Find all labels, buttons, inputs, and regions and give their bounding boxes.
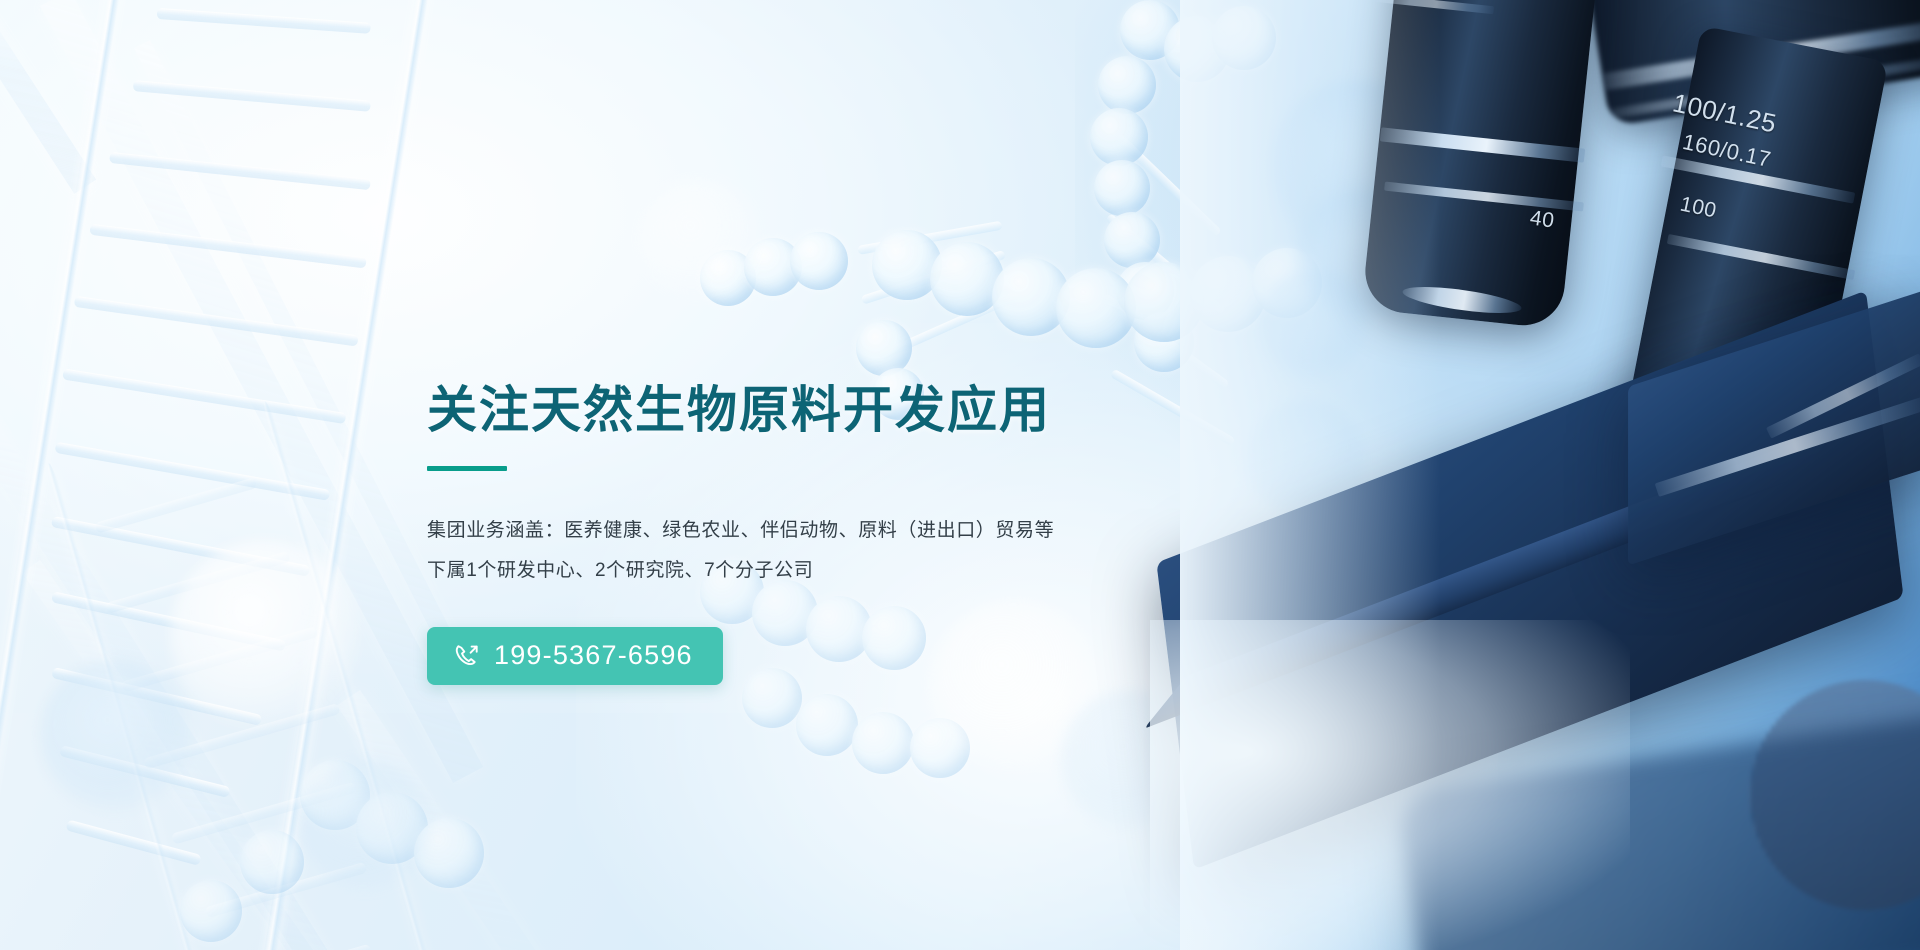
mol-atom <box>1134 312 1194 372</box>
stage-arm-highlight <box>1766 353 1920 438</box>
helix-rail-a <box>44 462 229 950</box>
mol-bond <box>1105 213 1226 316</box>
mol-atom <box>356 792 428 864</box>
mol-bond <box>857 221 1002 255</box>
stage-clip-highlight <box>1655 397 1920 497</box>
mol-atom <box>796 694 858 756</box>
mol-atom <box>1098 56 1156 114</box>
bokeh-light <box>1270 80 1445 255</box>
helix-rung <box>66 819 202 865</box>
helix-rung <box>94 477 257 533</box>
mol-atom <box>1090 108 1148 166</box>
lens-glass-tip <box>1697 421 1808 461</box>
phone-outgoing-icon <box>453 642 481 670</box>
helix-rung <box>51 667 262 726</box>
glass-facet-2 <box>40 0 483 783</box>
mol-atom <box>1056 268 1136 348</box>
focus-knob <box>1750 680 1920 910</box>
mol-atom <box>1116 262 1174 320</box>
lens-highlight-ring <box>1374 0 1494 14</box>
glass-facet-4 <box>0 330 343 950</box>
mol-bond <box>861 250 1006 305</box>
helix-rail-a <box>0 0 139 950</box>
mol-atom <box>872 230 942 300</box>
subcopy-line-1: 集团业务涵盖：医养健康、绿色农业、伴侣动物、原料（进出口）贸易等 <box>427 511 1247 551</box>
mol-atom <box>852 712 914 774</box>
helix-rung <box>171 782 357 845</box>
lens-highlight-ring <box>1380 127 1585 162</box>
helix-rung <box>244 944 372 950</box>
dna-helix-left <box>0 0 446 950</box>
bokeh-light <box>1258 270 1368 380</box>
microscope-stage <box>1156 290 1903 869</box>
mol-atom <box>1252 248 1322 318</box>
mol-atom <box>910 718 970 778</box>
hero-banner: 40 100/1.25 160/0.17 100 <box>0 0 1920 950</box>
mol-atom <box>856 320 912 376</box>
mol-atom <box>1104 212 1160 268</box>
bokeh-light <box>170 540 360 730</box>
mol-atom <box>180 880 242 942</box>
lens-magnification-40-label: 40 <box>1528 206 1555 233</box>
helix-rung <box>59 745 230 798</box>
bokeh-light <box>1296 190 1426 320</box>
bokeh-light <box>1060 690 1200 830</box>
mol-bond <box>878 291 1019 360</box>
helix-rail-b <box>251 0 441 950</box>
microscope-stage-slide-clip <box>1628 285 1920 566</box>
helix-rung <box>121 626 318 692</box>
microscope-turret <box>1574 0 1920 127</box>
helix-rung <box>133 80 371 112</box>
helix-rung <box>89 224 366 269</box>
helix-rung <box>105 551 291 614</box>
helix-rung <box>74 296 359 347</box>
call-phone-button[interactable]: 199-5367-6596 <box>427 627 723 685</box>
glass-facet-3 <box>134 40 468 672</box>
microscope-stage-edge <box>1144 425 1840 729</box>
bokeh-light <box>40 660 190 810</box>
helix-rung <box>62 368 346 424</box>
mol-atom <box>1190 256 1266 332</box>
turret-highlight-ring <box>1611 55 1920 118</box>
mol-atom <box>930 242 1004 316</box>
phone-number: 199-5367-6596 <box>494 642 693 669</box>
headline-underline <box>427 466 507 471</box>
objective-lens-40x <box>1361 0 1599 329</box>
mol-atom <box>790 232 848 290</box>
helix-rung <box>55 442 331 501</box>
helix-rung <box>157 8 371 34</box>
lens-tube-160-label: 160/0.17 <box>1680 129 1773 173</box>
page-title: 关注天然生物原料开发应用 <box>427 382 1247 438</box>
mol-atom <box>700 250 756 306</box>
lens-magnification-100-label: 100 <box>1678 192 1719 223</box>
mol-atom <box>240 830 304 894</box>
glass-facet-6 <box>337 690 651 950</box>
microscope: 40 100/1.25 160/0.17 100 <box>1230 0 1920 950</box>
bokeh-light <box>300 760 430 890</box>
helix-rung <box>205 862 368 918</box>
mol-atom <box>1094 160 1150 216</box>
objective-lens-100x <box>1622 26 1889 475</box>
microscope-base <box>1396 709 1920 950</box>
dna-helix-lower-left <box>37 398 454 950</box>
lens-aperture-100-label: 100/1.25 <box>1670 87 1779 139</box>
mol-atom <box>1164 16 1230 82</box>
mol-atom <box>744 238 802 296</box>
subcopy-line-2: 下属1个研发中心、2个研究院、7个分子公司 <box>427 551 1247 591</box>
hero-subcopy: 集团业务涵盖：医养健康、绿色农业、伴侣动物、原料（进出口）贸易等 下属1个研发中… <box>427 511 1247 591</box>
lens-highlight-ring <box>1384 182 1584 212</box>
helix-rung <box>51 516 310 577</box>
hero-content: 关注天然生物原料开发应用 集团业务涵盖：医养健康、绿色农业、伴侣动物、原料（进出… <box>427 382 1247 685</box>
mol-bond <box>1115 133 1222 237</box>
helix-rung <box>109 152 371 190</box>
lens-glass-tip <box>1401 282 1523 319</box>
mol-atom <box>300 760 370 830</box>
glass-facet-1 <box>0 0 96 194</box>
helix-rail-b <box>261 400 446 950</box>
helix-rung <box>51 591 286 651</box>
glass-facet-5 <box>22 560 396 950</box>
mol-atom <box>1124 262 1204 342</box>
lens-highlight-ring <box>1667 234 1855 280</box>
mol-atom <box>1212 6 1276 70</box>
mol-atom <box>992 258 1070 336</box>
lens-highlight-ring <box>1661 155 1855 203</box>
mol-bond <box>1101 293 1229 390</box>
helix-rung <box>143 703 340 769</box>
turret-highlight-ring <box>1603 19 1920 91</box>
mol-atom <box>414 818 484 888</box>
bokeh-light <box>640 180 760 300</box>
mol-atom <box>1120 0 1180 60</box>
bokeh-light <box>1246 400 1366 520</box>
